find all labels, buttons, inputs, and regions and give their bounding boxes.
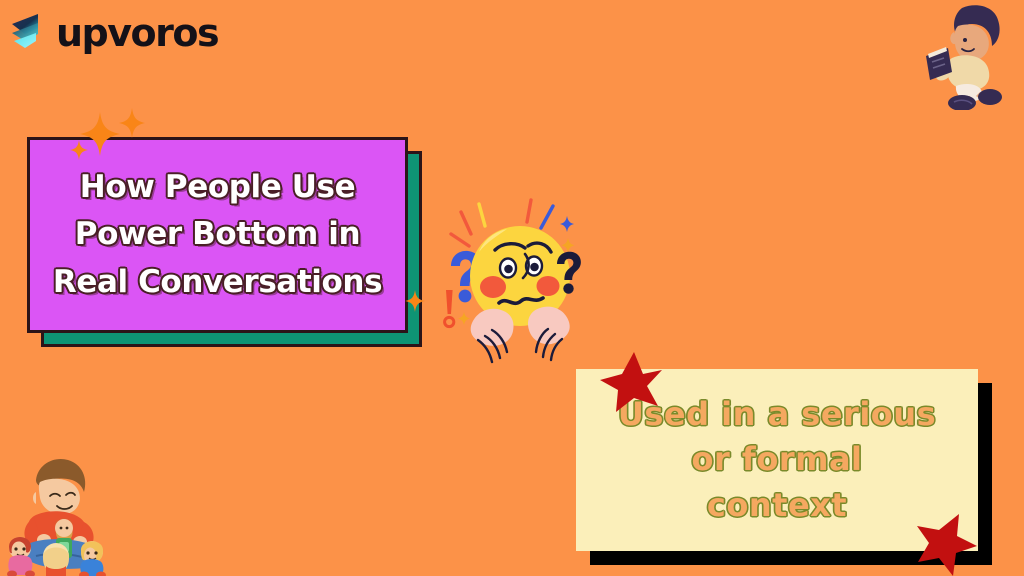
child-playing-with-dolls-illustration: [0, 452, 128, 576]
slide-canvas: upvoros How People Use Power Bottom in R…: [0, 0, 1024, 576]
brand-logo[interactable]: upvoros: [8, 8, 218, 56]
title-line-2: Power Bottom in: [53, 211, 382, 258]
red-star-top-left-icon: [598, 350, 664, 416]
sparkle-medium-icon: [119, 108, 145, 138]
page-title: How People Use Power Bottom in Real Conv…: [53, 164, 382, 305]
title-line-1: How People Use: [53, 164, 382, 211]
subtitle-line-1: Used in a serious: [618, 392, 936, 437]
child-reading-book-illustration: [918, 2, 1010, 110]
subtitle-line-2: or formal: [618, 437, 936, 482]
red-star-bottom-right-icon: [913, 512, 979, 576]
confused-thinking-emoji-icon: [435, 190, 605, 365]
sparkle-tiny-icon: [405, 290, 425, 312]
sparkle-small-icon: [70, 140, 88, 160]
subtitle-line-3: context: [618, 483, 936, 528]
title-card: How People Use Power Bottom in Real Conv…: [27, 137, 408, 333]
stacked-layers-icon: [8, 11, 50, 53]
subtitle-text: Used in a serious or formal context: [618, 392, 936, 528]
brand-name: upvoros: [56, 14, 218, 52]
title-line-3: Real Conversations: [53, 259, 382, 306]
title-card-group: How People Use Power Bottom in Real Conv…: [27, 137, 408, 333]
